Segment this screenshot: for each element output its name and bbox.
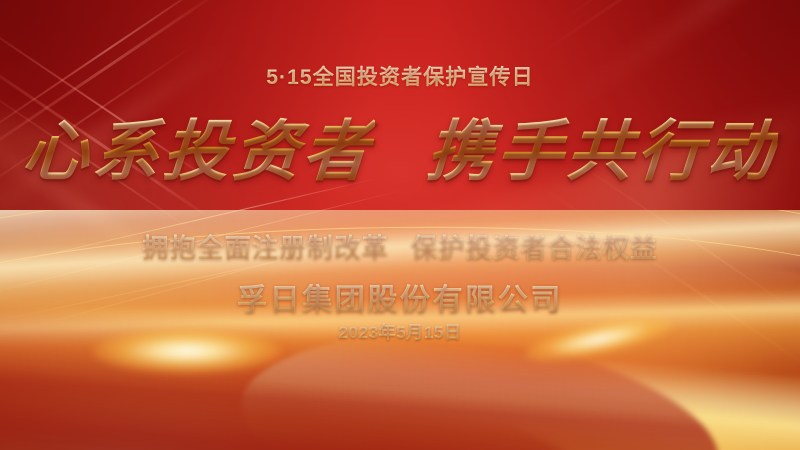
- sub-slogan: 拥抱全面注册制改革保护投资者合法权益: [0, 228, 800, 265]
- main-title-part-1: 心系投资者: [21, 116, 376, 187]
- sub-slogan-left: 拥抱全面注册制改革: [142, 233, 389, 263]
- top-banner-text: 5·15全国投资者保护宣传日: [0, 61, 800, 91]
- event-date: 2023年5月15日: [0, 318, 800, 343]
- sub-slogan-right: 保护投资者合法权益: [411, 233, 658, 263]
- poster-text-content: 5·15全国投资者保护宣传日 心系投资者 携手共行动 拥抱全面注册制改革保护投资…: [0, 0, 800, 450]
- company-name: 孚日集团股份有限公司: [0, 275, 800, 319]
- investor-protection-poster: 5·15全国投资者保护宣传日 心系投资者 携手共行动 拥抱全面注册制改革保护投资…: [0, 0, 800, 450]
- main-title: 心系投资者 携手共行动: [0, 116, 800, 187]
- main-title-part-2: 携手共行动: [425, 116, 780, 187]
